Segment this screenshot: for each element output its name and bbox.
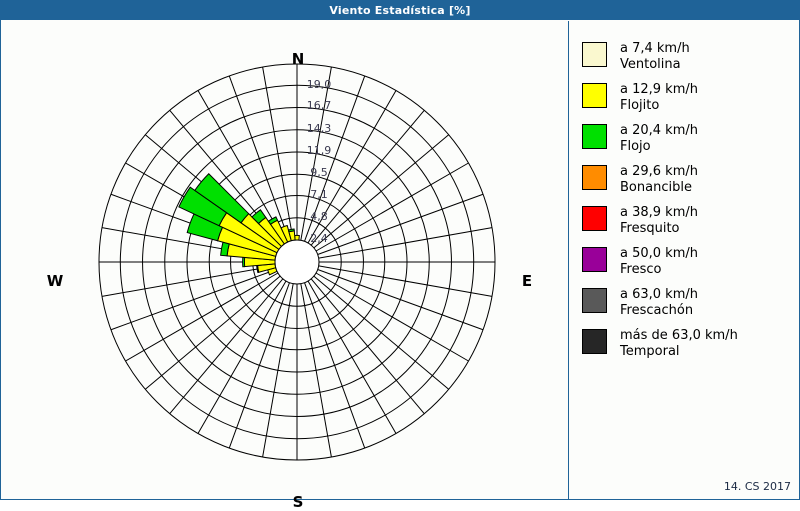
legend-color-swatch: [582, 329, 607, 354]
wind-rose-chart: [2, 21, 562, 499]
radial-tick-label: 2,4: [297, 232, 341, 245]
legend-item-label: a 50,0 km/hFresco: [620, 246, 698, 278]
legend-speed-range: a 7,4 km/h: [620, 41, 690, 56]
legend-item[interactable]: a 50,0 km/hFresco: [582, 246, 799, 278]
legend-speed-name: Fresquito: [620, 221, 698, 237]
calm-hub: [275, 240, 319, 284]
legend-speed-range: a 12,9 km/h: [620, 82, 698, 97]
grid-spoke: [263, 284, 294, 457]
grid-spoke: [308, 281, 396, 433]
legend-item-label: a 38,9 km/hFresquito: [620, 205, 698, 237]
legend-item[interactable]: a 7,4 km/hVentolina: [582, 41, 799, 73]
legend-speed-name: Temporal: [620, 344, 738, 360]
radial-tick-label: 16,7: [297, 99, 341, 112]
legend-color-swatch: [582, 124, 607, 149]
legend-speed-range: a 38,9 km/h: [620, 205, 698, 220]
legend-item-label: a 63,0 km/hFrescachón: [620, 287, 698, 319]
legend-item[interactable]: a 20,4 km/hFlojo: [582, 123, 799, 155]
radial-tick-label: 14,3: [297, 122, 341, 135]
legend-speed-name: Flojo: [620, 139, 698, 155]
radial-tick-label: 7,1: [297, 188, 341, 201]
legend-speed-range: a 29,6 km/h: [620, 164, 698, 179]
radial-tick-label: 4,8: [297, 210, 341, 223]
grid-spoke: [102, 266, 275, 297]
legend-color-swatch: [582, 165, 607, 190]
legend-speed-name: Ventolina: [620, 57, 690, 73]
legend-item[interactable]: a 12,9 km/hFlojito: [582, 82, 799, 114]
radial-tick-label: 9,5: [297, 166, 341, 179]
legend-color-swatch: [582, 288, 607, 313]
grid-spoke: [301, 284, 332, 457]
legend-item[interactable]: a 38,9 km/hFresquito: [582, 205, 799, 237]
footer-credit: 14. CS 2017: [724, 480, 791, 493]
compass-label-west: W: [35, 272, 75, 290]
wind-petal-segment: [288, 229, 294, 232]
legend-speed-name: Flojito: [620, 98, 698, 114]
legend-item-label: a 12,9 km/hFlojito: [620, 82, 698, 114]
wind-rose-window: Viento Estadística [%] N E S W 2,44,87,1…: [0, 0, 800, 500]
window-title-bar: Viento Estadística [%]: [1, 1, 799, 20]
legend-speed-range: a 20,4 km/h: [620, 123, 698, 138]
compass-label-north: N: [278, 50, 318, 68]
wind-rose-plot-panel: N E S W 2,44,87,19,511,914,316,719,0: [2, 21, 562, 499]
legend-speed-name: Frescachón: [620, 303, 698, 319]
grid-spoke: [126, 273, 278, 361]
legend-item[interactable]: más de 63,0 km/hTemporal: [582, 328, 799, 360]
compass-label-south: S: [278, 493, 318, 511]
grid-spoke: [316, 273, 468, 361]
wind-petal-segment: [243, 257, 245, 266]
legend-item-label: a 7,4 km/hVentolina: [620, 41, 690, 73]
window-title: Viento Estadística [%]: [329, 4, 470, 17]
legend-speed-range: a 50,0 km/h: [620, 246, 698, 261]
legend-panel: a 7,4 km/hVentolinaa 12,9 km/hFlojitoa 2…: [568, 21, 799, 499]
legend-item-label: a 20,4 km/hFlojo: [620, 123, 698, 155]
radial-tick-label: 11,9: [297, 144, 341, 157]
legend-item[interactable]: a 63,0 km/hFrescachón: [582, 287, 799, 319]
legend-color-swatch: [582, 206, 607, 231]
grid-spoke: [198, 281, 286, 433]
grid-spoke: [263, 67, 294, 240]
legend-speed-range: a 63,0 km/h: [620, 287, 698, 302]
legend-item-label: más de 63,0 km/hTemporal: [620, 328, 738, 360]
legend-speed-name: Fresco: [620, 262, 698, 278]
legend-color-swatch: [582, 247, 607, 272]
grid-spoke: [319, 228, 492, 259]
legend-item-label: a 29,6 km/hBonancible: [620, 164, 698, 196]
legend-color-swatch: [582, 83, 607, 108]
compass-label-east: E: [507, 272, 547, 290]
legend-item[interactable]: a 29,6 km/hBonancible: [582, 164, 799, 196]
calm-centre-circle: [275, 240, 319, 284]
legend-color-swatch: [582, 42, 607, 67]
grid-spoke: [319, 266, 492, 297]
radial-tick-label: 19,0: [297, 78, 341, 91]
legend-speed-range: más de 63,0 km/h: [620, 328, 738, 343]
legend-speed-name: Bonancible: [620, 180, 698, 196]
